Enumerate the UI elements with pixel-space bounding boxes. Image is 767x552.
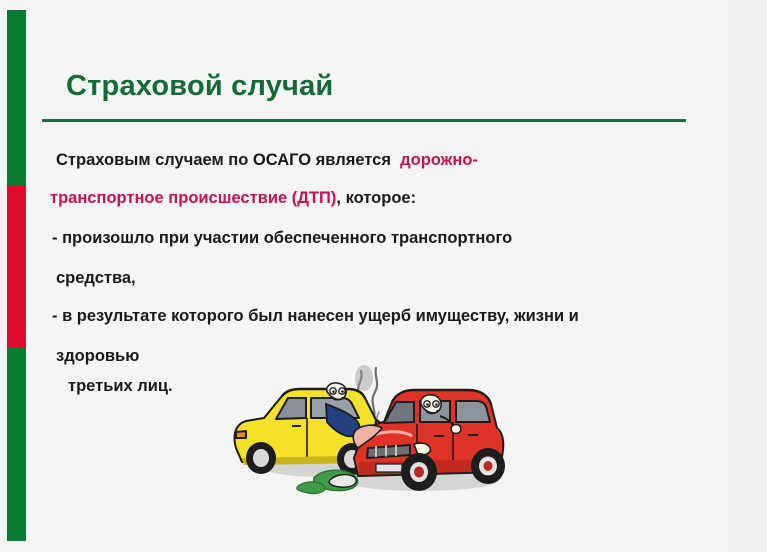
sidebar-accent-bar-red [7, 186, 26, 348]
body-line-2-text: , которое: [336, 189, 416, 207]
page-title: Страховой случай [66, 70, 333, 103]
car-crash-illustration [206, 338, 516, 518]
red-car-rear-side-window [456, 401, 490, 422]
slide-right-margin [728, 0, 767, 552]
slide-root: Страховой случай Страховым случаем по ОС… [0, 0, 767, 552]
body-line-7: третьих лиц. [68, 376, 173, 396]
body-line-1-text: Страховым случаем по ОСАГО является [56, 151, 391, 169]
body-line-2-highlight: транспортное происшествие (ДТП) [50, 189, 336, 207]
body-line-5: - в результате которого был нанесен ущер… [52, 306, 579, 326]
red-car-grille [367, 445, 410, 458]
body-line-3: - произошло при участии обеспеченного тр… [52, 228, 512, 248]
body-line-6: здоровью [56, 346, 139, 366]
body-line-1-highlight: дорожно- [400, 151, 478, 169]
body-line-2: транспортное происшествие (ДТП), которое… [50, 188, 416, 208]
red-car-licence-plate [376, 464, 402, 472]
body-line-4: средства, [56, 268, 136, 288]
body-line-1: Страховым случаем по ОСАГО является доро… [56, 150, 478, 170]
yellow-car-taillight [236, 431, 246, 438]
title-divider [42, 119, 686, 122]
